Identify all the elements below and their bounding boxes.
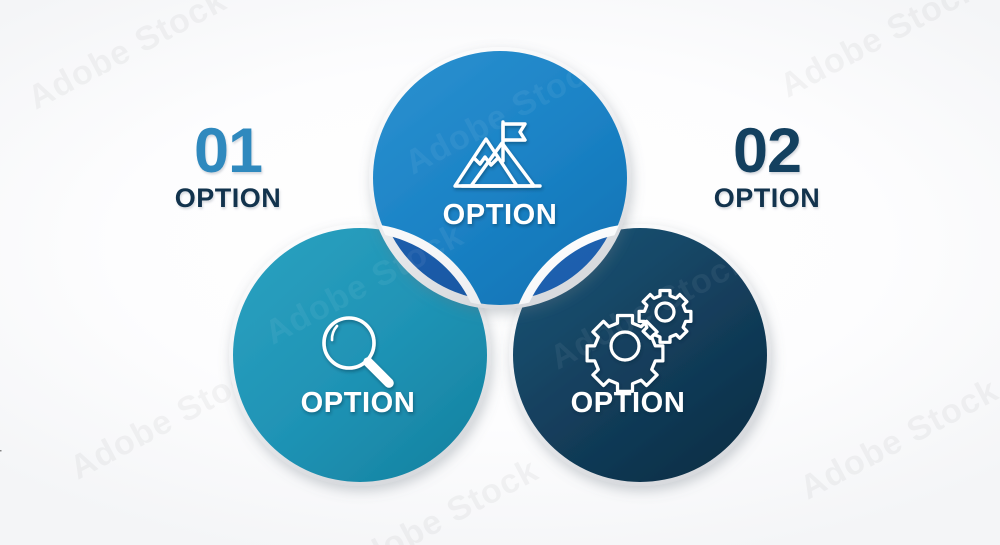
stock-id-watermark: Adobe Stock | #1790709360 bbox=[0, 358, 2, 537]
circle-left-caption: OPTION bbox=[301, 387, 416, 419]
circles-diagram: OPTION OPTION OPTION bbox=[0, 0, 1000, 545]
label-01-caption: OPTION bbox=[133, 184, 323, 212]
label-02-caption: OPTION bbox=[672, 184, 862, 212]
label-02-number: 02 bbox=[672, 122, 862, 182]
label-02: 02 OPTION bbox=[672, 122, 862, 212]
circle-right-caption: OPTION bbox=[571, 387, 686, 419]
infographic-canvas: Adobe Stock Adobe Stock Adobe Stock Adob… bbox=[0, 0, 1000, 545]
label-01: 01 OPTION bbox=[133, 122, 323, 212]
circle-top-caption: OPTION bbox=[443, 199, 558, 231]
label-01-number: 01 bbox=[133, 122, 323, 182]
